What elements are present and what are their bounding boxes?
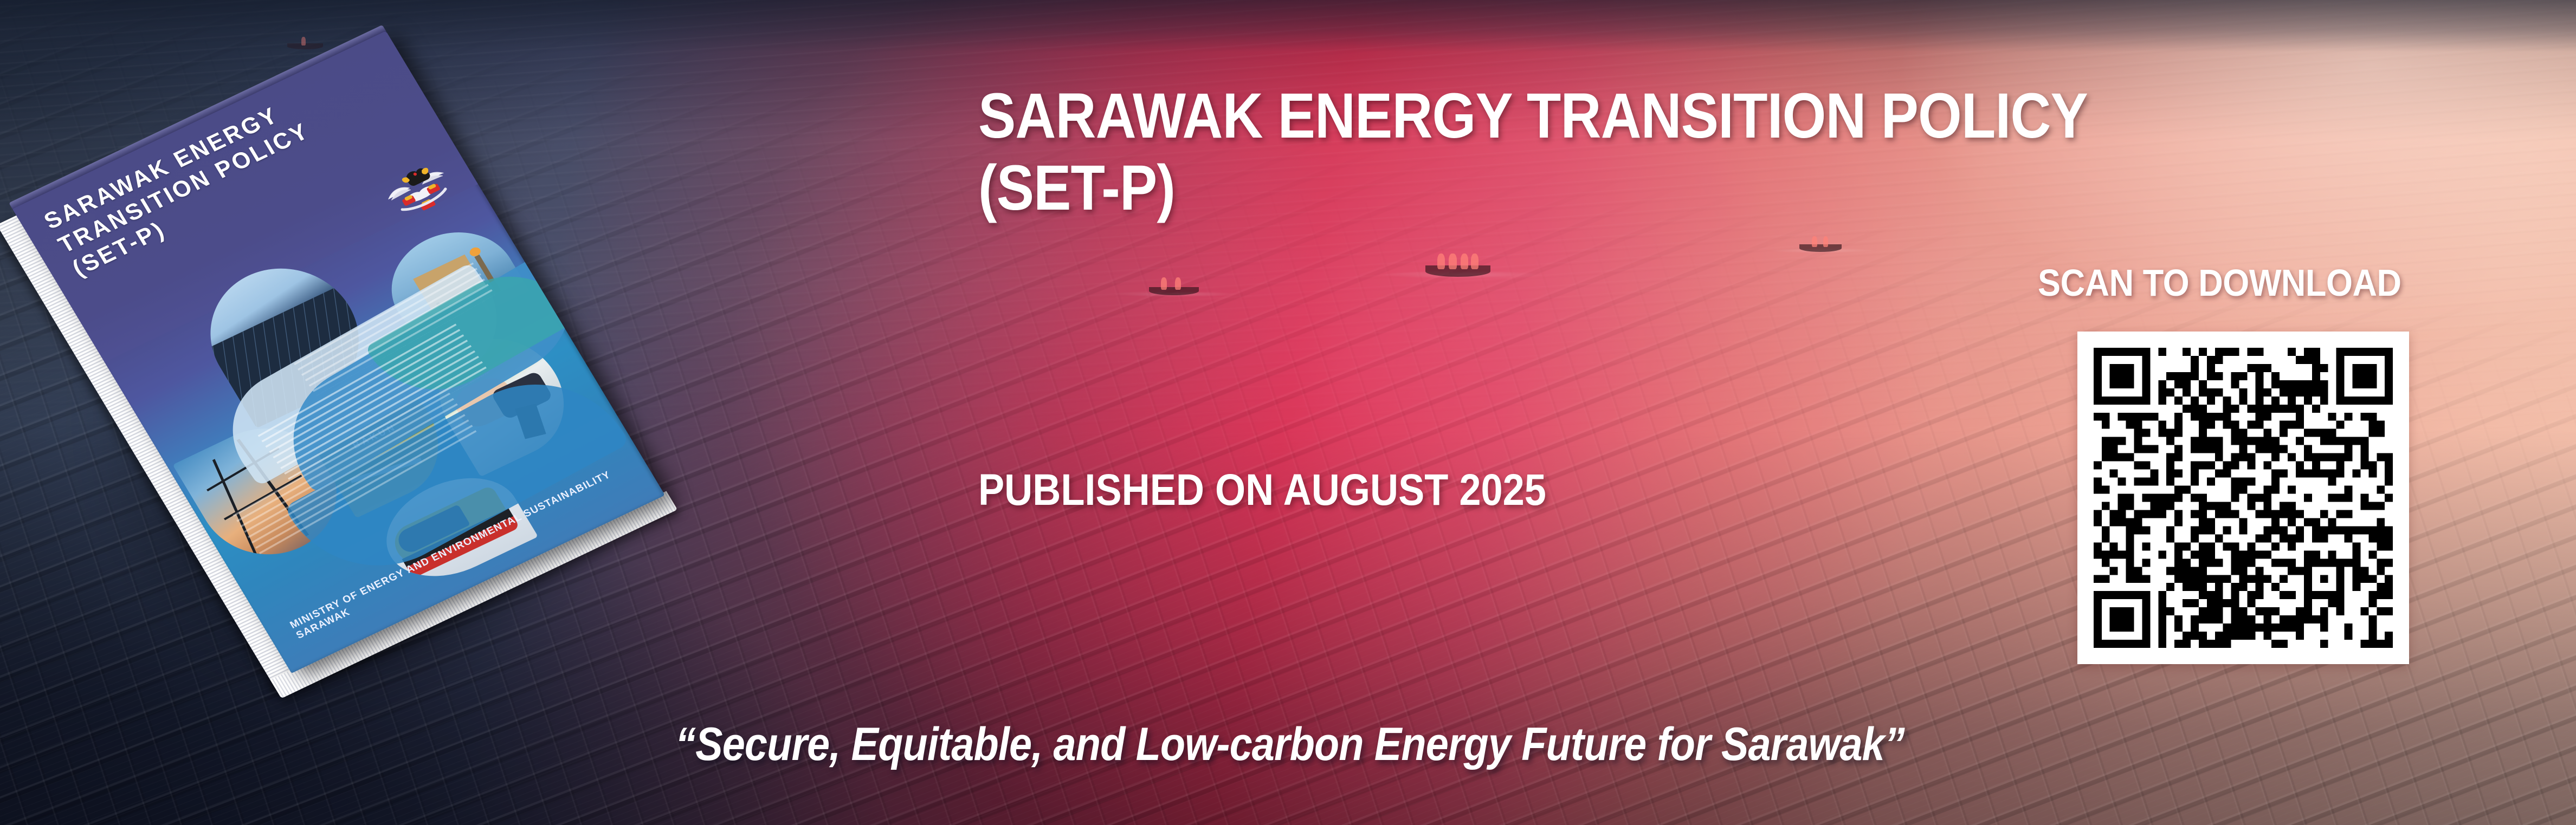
page-title-line2: (SET-P)	[978, 152, 2199, 224]
book-mockup: BAKUN	[51, 49, 854, 688]
boat-icon	[1149, 277, 1199, 301]
qr-code-canvas[interactable]	[2077, 332, 2409, 664]
boat-icon	[1799, 236, 1842, 257]
set-p-promo-banner: BAKUN	[0, 0, 2576, 825]
scan-to-download-label: SCAN TO DOWNLOAD	[2038, 261, 2401, 304]
page-title: SARAWAK ENERGY TRANSITION POLICY (SET-P)	[978, 80, 2199, 225]
qr-code[interactable]	[2077, 332, 2409, 664]
page-title-line1: SARAWAK ENERGY TRANSITION POLICY	[978, 80, 2199, 152]
tagline: “Secure, Equitable, and Low-carbon Energ…	[574, 718, 2005, 771]
boat-icon	[1425, 254, 1490, 284]
publication-date: PUBLISHED ON AUGUST 2025	[978, 465, 1546, 516]
